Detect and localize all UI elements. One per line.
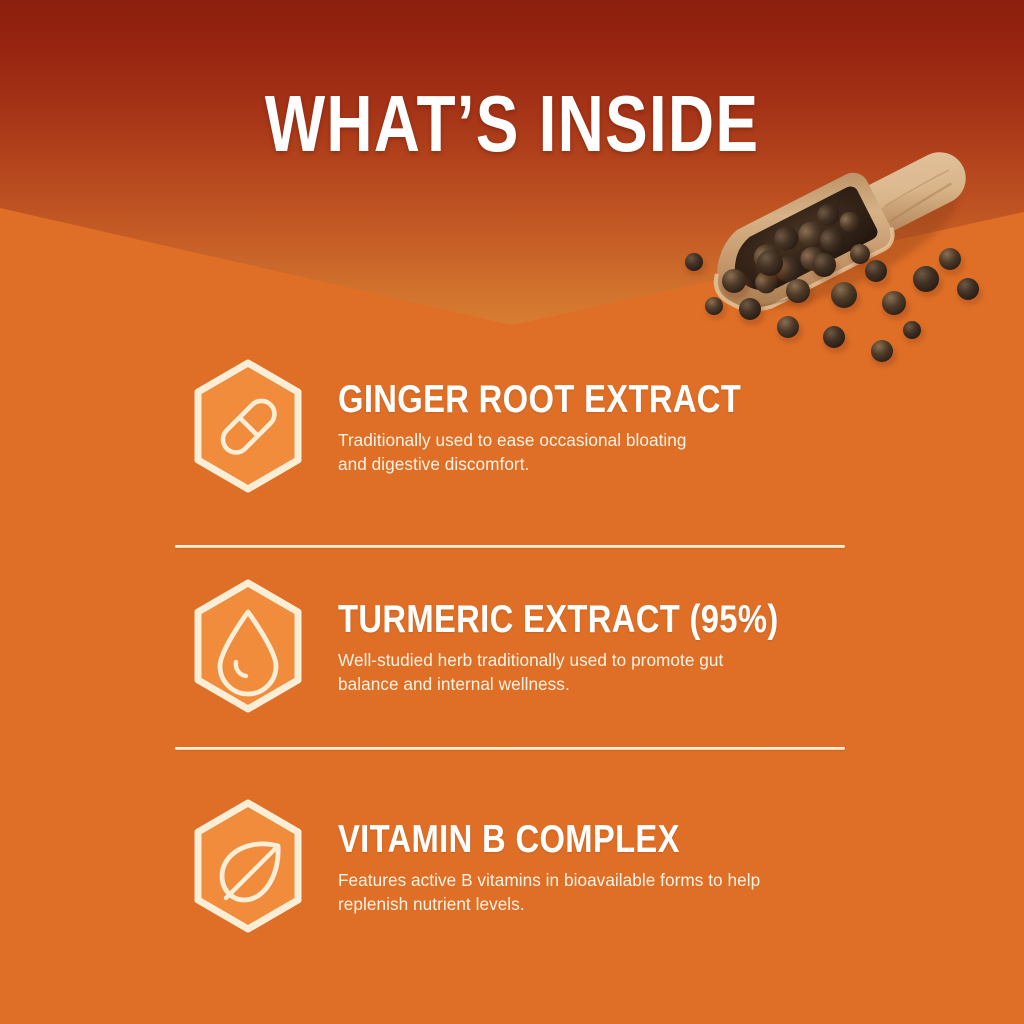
feature-heading: VITAMIN B COMPLEX: [338, 820, 775, 860]
feature-description-line: balance and internal wellness.: [338, 673, 858, 697]
feature-description-line: and digestive discomfort.: [338, 453, 858, 477]
feature-description-line: replenish nutrient levels.: [338, 893, 858, 917]
feature-description: Traditionally used to ease occasional bl…: [338, 429, 858, 476]
feature-description-line: Traditionally used to ease occasional bl…: [338, 429, 858, 453]
list-item: GINGER ROOT EXTRACT Traditionally used t…: [175, 358, 875, 508]
feature-text: VITAMIN B COMPLEX Features active B vita…: [338, 820, 858, 916]
feature-description: Features active B vitamins in bioavailab…: [338, 869, 858, 916]
list-item: TURMERIC EXTRACT (95%) Well-studied herb…: [175, 578, 875, 728]
list-item: VITAMIN B COMPLEX Features active B vita…: [175, 798, 875, 948]
feature-heading: GINGER ROOT EXTRACT: [338, 380, 775, 420]
feature-description-line: Features active B vitamins in bioavailab…: [338, 869, 858, 893]
feature-text: GINGER ROOT EXTRACT Traditionally used t…: [338, 380, 858, 476]
capsule-icon: [190, 358, 306, 494]
feature-heading: TURMERIC EXTRACT (95%): [338, 600, 775, 640]
droplet-icon: [190, 578, 306, 714]
feature-description: Well-studied herb traditionally used to …: [338, 649, 858, 696]
ingredient-list: GINGER ROOT EXTRACT Traditionally used t…: [0, 0, 1024, 1024]
feature-description-line: Well-studied herb traditionally used to …: [338, 649, 858, 673]
whats-inside-infographic: WHAT’S INSIDE: [0, 0, 1024, 1024]
leaf-icon: [190, 798, 306, 934]
divider: [175, 747, 845, 750]
feature-text: TURMERIC EXTRACT (95%) Well-studied herb…: [338, 600, 858, 696]
divider: [175, 545, 845, 548]
